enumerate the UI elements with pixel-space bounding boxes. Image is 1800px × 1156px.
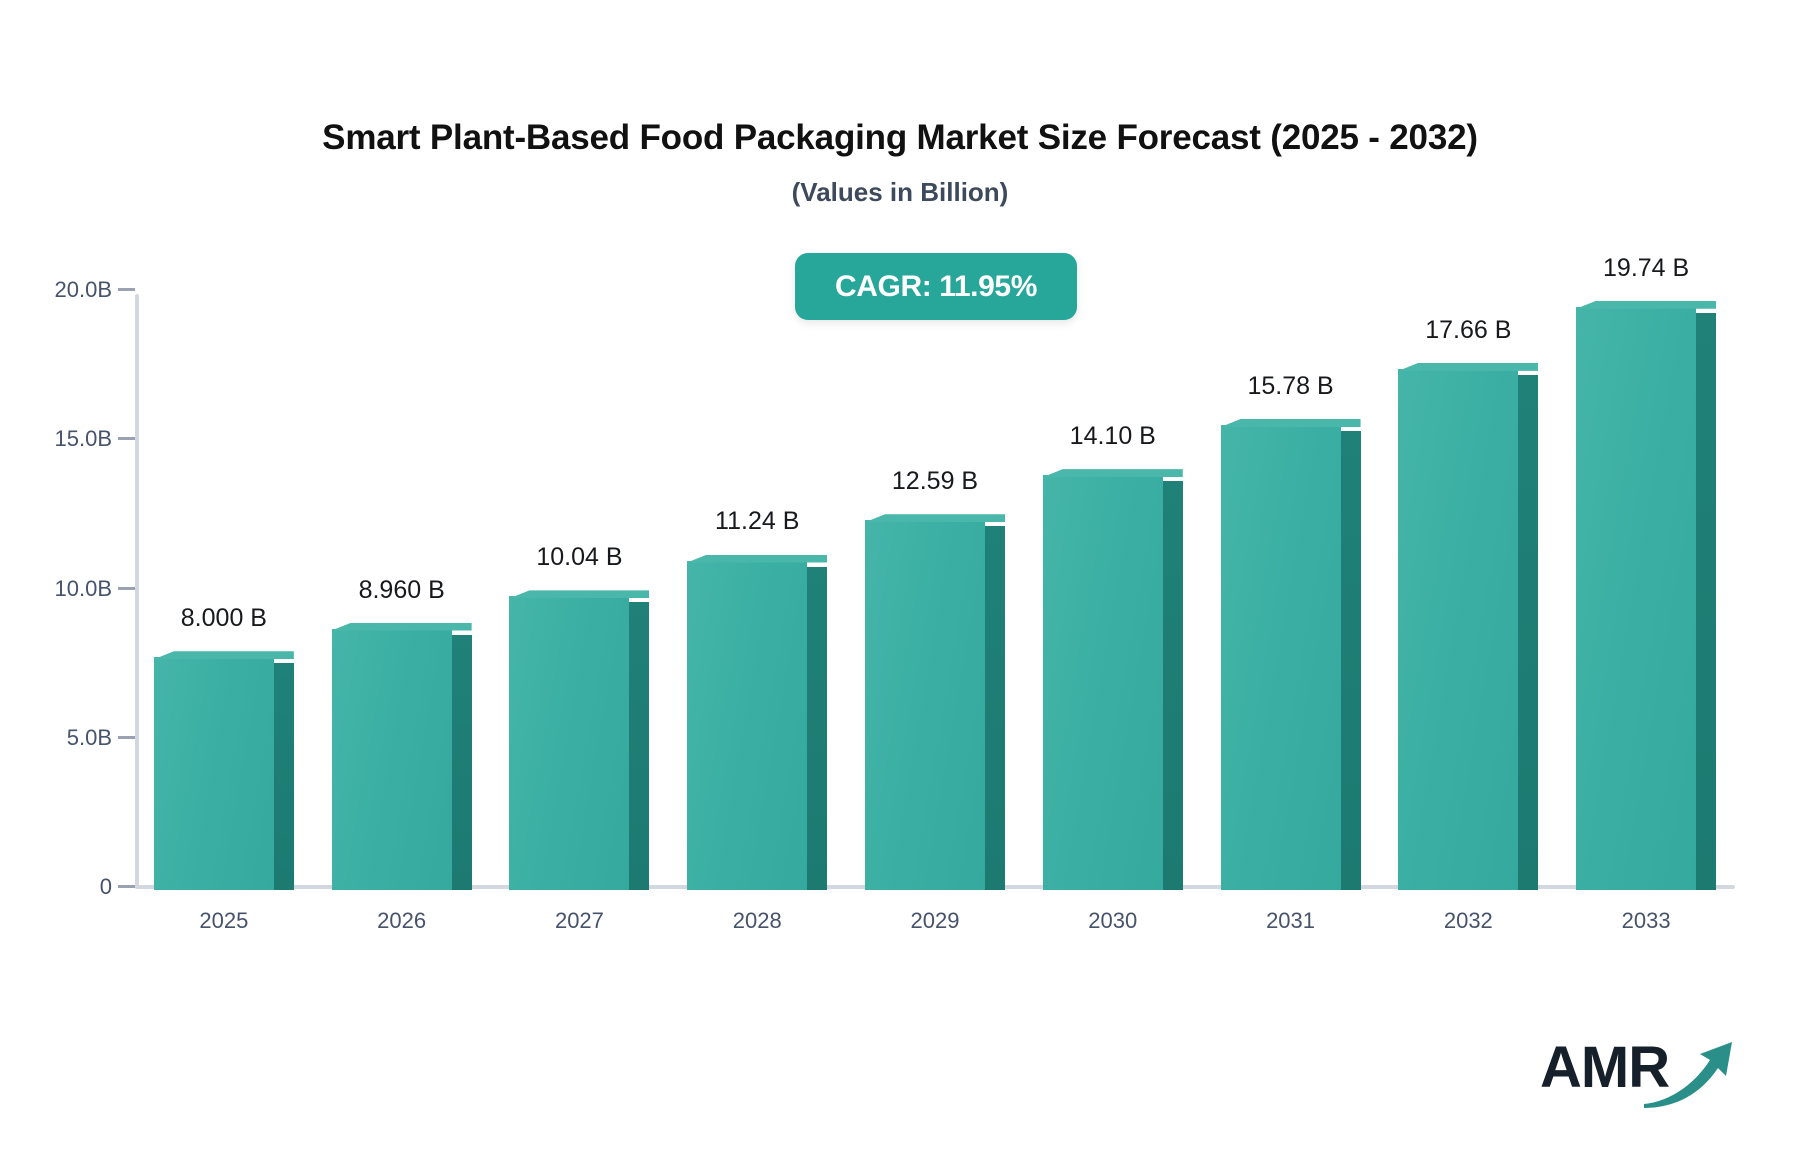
- y-axis-tick-mark: [118, 587, 135, 590]
- y-axis-tick-mark: [118, 885, 135, 888]
- bar-side-face: [1518, 375, 1538, 890]
- x-axis-tick-label: 2029: [835, 908, 1035, 934]
- bar-top-face: [1576, 301, 1716, 309]
- bar-value-label: 8.960 B: [272, 576, 532, 605]
- y-axis-tick-mark: [118, 736, 135, 739]
- bar-side-face: [807, 567, 827, 891]
- bar-side-face: [274, 663, 294, 890]
- growth-arrow-icon: [1640, 1036, 1736, 1110]
- bar-value-label: 11.24 B: [627, 507, 887, 536]
- y-axis-tick-label: 15.0B: [55, 426, 119, 452]
- amr-logo: AMR: [1540, 1028, 1730, 1108]
- bar: [1221, 419, 1361, 890]
- bar: [1043, 469, 1183, 890]
- y-axis-tick-label: 0: [100, 874, 118, 900]
- bar: [865, 514, 1005, 890]
- bar-front-face: [865, 520, 985, 890]
- bar-front-face: [1576, 307, 1696, 890]
- bar: [1398, 363, 1538, 890]
- x-axis-tick-label: 2026: [302, 908, 502, 934]
- x-axis-tick-label: 2031: [1191, 908, 1391, 934]
- y-axis-tick: 10.0B: [0, 576, 135, 602]
- y-axis-tick: 20.0B: [0, 277, 135, 303]
- bar-front-face: [687, 561, 807, 891]
- bar-side-face: [1341, 431, 1361, 890]
- bar-side-face: [452, 635, 472, 890]
- y-axis-tick: 15.0B: [0, 426, 135, 452]
- y-axis-tick: 0: [0, 874, 135, 900]
- bar: [1576, 301, 1716, 890]
- bar-side-face: [629, 602, 649, 890]
- bar-value-label: 15.78 B: [1161, 372, 1421, 401]
- y-axis-tick-label: 20.0B: [55, 277, 119, 303]
- x-axis-tick-label: 2025: [124, 908, 324, 934]
- x-axis-tick-label: 2033: [1546, 908, 1746, 934]
- bar-value-label: 19.74 B: [1516, 254, 1776, 283]
- chart-canvas: Smart Plant-Based Food Packaging Market …: [0, 0, 1800, 1156]
- chart-title: Smart Plant-Based Food Packaging Market …: [0, 118, 1800, 158]
- x-axis-tick-label: 2028: [657, 908, 857, 934]
- bar-side-face: [985, 526, 1005, 890]
- y-axis-tick-label: 5.0B: [67, 725, 118, 751]
- bar-front-face: [509, 596, 629, 890]
- bar-value-label: 12.59 B: [805, 467, 1065, 496]
- y-axis-tick: 5.0B: [0, 725, 135, 751]
- bar-front-face: [1221, 425, 1341, 890]
- bar-side-face: [1163, 481, 1183, 890]
- x-axis-tick-label: 2030: [1013, 908, 1213, 934]
- bar-value-label: 14.10 B: [983, 422, 1243, 451]
- bar-front-face: [332, 629, 452, 890]
- bar: [509, 590, 649, 890]
- y-axis-tick-mark: [118, 288, 135, 291]
- bar-value-label: 10.04 B: [449, 543, 709, 572]
- bar-value-label: 17.66 B: [1338, 316, 1598, 345]
- y-axis-tick-mark: [118, 437, 135, 440]
- bar-value-label: 8.000 B: [94, 604, 354, 633]
- x-axis-tick-label: 2032: [1368, 908, 1568, 934]
- x-axis-tick-label: 2027: [479, 908, 679, 934]
- bar-front-face: [1398, 369, 1518, 890]
- bar-top-face: [1398, 363, 1538, 371]
- bar-front-face: [1043, 475, 1163, 890]
- y-axis-tick-label: 10.0B: [55, 576, 119, 602]
- bar-side-face: [1696, 313, 1716, 890]
- chart-subtitle: (Values in Billion): [0, 177, 1800, 208]
- bar-top-face: [154, 651, 294, 659]
- bar-front-face: [154, 657, 274, 890]
- bar: [154, 651, 294, 890]
- bar: [332, 623, 472, 890]
- bar: [687, 555, 827, 891]
